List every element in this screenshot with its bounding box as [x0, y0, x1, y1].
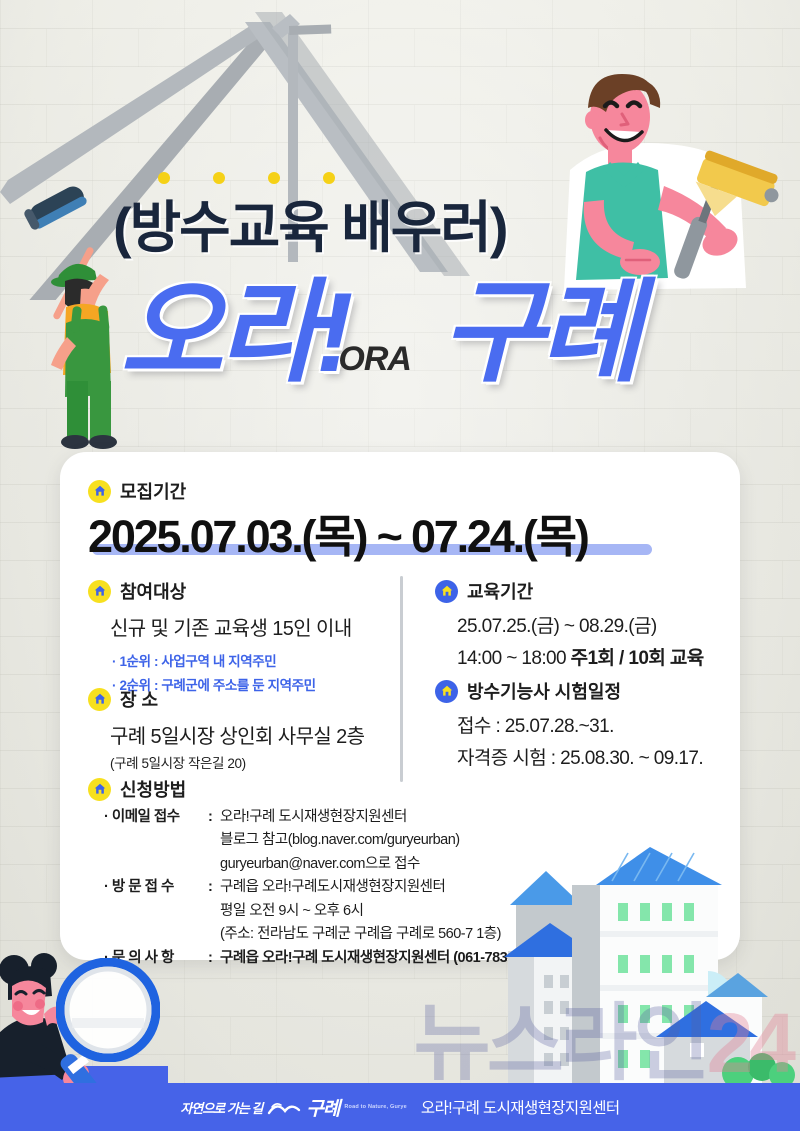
section-education: 교육기간 25.07.25.(금) ~ 08.29.(금) 14:00 ~ 18…: [435, 578, 704, 670]
apply-row-visit: · 방 문 접 수 : 구례읍 오라!구례도시재생현장지원센터: [104, 876, 546, 899]
gurye-logo-korean: 자연으로 가는 길: [180, 1098, 262, 1117]
apply-value-email: 오라!구례 도시재생현장지원센터: [220, 806, 407, 829]
apply-method-list: · 이메일 접수 : 오라!구례 도시재생현장지원센터 블로그 참고(blog.…: [104, 806, 546, 970]
target-value: 신규 및 기존 교육생 15인 이내: [110, 612, 352, 641]
section-label-apply: 신청방법: [120, 776, 186, 802]
apply-row-inquiry: · 문 의 사 항 : 구례읍 오라!구례 도시재생현장지원센터 (061-78…: [104, 947, 546, 970]
poster-canvas: (방수교육 배우러) 오라! ORA 구례 모집기간 2025.07.03.(목…: [0, 0, 800, 1131]
house-icon: [88, 688, 111, 711]
apply-sub-email-blog: 블로그 참고(blog.naver.com/guryeurban): [220, 829, 546, 852]
gurye-logo-main: 구례: [306, 1094, 339, 1121]
apply-label-visit: 방 문 접 수: [112, 879, 174, 895]
section-label-place: 장 소: [120, 686, 158, 712]
city-buildings-illustration: [500, 845, 800, 1085]
gurye-logo-sub: Road to Nature, Gurye: [344, 1104, 407, 1110]
apply-value-visit: 구례읍 오라!구례도시재생현장지원센터: [220, 876, 445, 899]
apply-row-email: · 이메일 접수 : 오라!구례 도시재생현장지원센터: [104, 806, 546, 829]
apply-colon: :: [208, 876, 220, 899]
apply-bullet: ·: [104, 809, 108, 825]
place-value: 구례 5일시장 상인회 사무실 2층: [110, 720, 364, 749]
exam-certificate-date: 자격증 시험 : 25.08.30. ~ 09.17.: [457, 743, 703, 770]
apply-bullet: ·: [104, 879, 108, 895]
section-exam-schedule: 방수기능사 시험일정 접수 : 25.07.28.~31. 자격증 시험 : 2…: [435, 678, 703, 770]
section-label-education: 교육기간: [467, 578, 533, 604]
mountain-icon: [267, 1098, 301, 1116]
place-note: (구례 5일시장 작은길 20): [110, 752, 364, 772]
exam-application-date: 접수 : 25.07.28.~31.: [457, 711, 703, 738]
apply-sub-visit-hours: 평일 오전 9시 ~ 오후 6시: [220, 900, 546, 923]
apply-label-email: 이메일 접수: [112, 809, 180, 825]
section-place: 장 소 구례 5일시장 상인회 사무실 2층 (구례 5일시장 작은길 20): [88, 686, 364, 772]
education-frequency: 주1회 / 10회 교육: [571, 648, 704, 669]
house-icon: [435, 580, 458, 603]
target-priority-1: · 1순위 : 사업구역 내 지역주민: [112, 650, 352, 670]
section-label-target: 참여대상: [120, 578, 186, 604]
footer-center-name: 오라!구례 도시재생현장지원센터: [421, 1096, 620, 1118]
poster-title: 오라! ORA 구례: [120, 277, 637, 389]
house-icon: [88, 580, 111, 603]
footer-bar: 자연으로 가는 길 구례 Road to Nature, Gurye 오라!구례…: [0, 1083, 800, 1131]
recruit-date-value: 2025.07.03.(목) ~ 07.24.(목): [88, 500, 588, 565]
poster-title-ora-en: ORA: [338, 340, 411, 379]
apply-colon: :: [208, 806, 220, 829]
section-label-exam: 방수기능사 시험일정: [467, 678, 621, 704]
apply-sub-email-address: guryeurban@naver.com으로 접수: [220, 853, 546, 876]
education-time: 14:00 ~ 18:00: [457, 648, 571, 669]
column-divider: [400, 576, 403, 782]
magnifier-lens: [56, 958, 160, 1062]
house-icon: [88, 778, 111, 801]
education-dates: 25.07.25.(금) ~ 08.29.(금): [457, 611, 704, 638]
poster-subtitle: (방수교육 배우러): [113, 183, 507, 264]
gurye-logo: 자연으로 가는 길 구례 Road to Nature, Gurye: [180, 1094, 407, 1121]
apply-sub-visit-address: (주소: 전라남도 구례군 구례읍 구례로 560-7 1층): [220, 923, 546, 946]
section-target: 참여대상 신규 및 기존 교육생 15인 이내 · 1순위 : 사업구역 내 지…: [88, 578, 352, 694]
apply-colon: :: [208, 947, 220, 970]
poster-title-gurye: 구례: [441, 277, 637, 389]
worker-smiling-illustration: [548, 62, 796, 302]
apply-value-inquiry: 구례읍 오라!구례 도시재생현장지원센터 (061-783-7785): [220, 947, 546, 970]
section-apply-method: 신청방법: [88, 776, 186, 802]
poster-title-ora-kr: 오라!: [120, 277, 348, 389]
house-icon: [435, 680, 458, 703]
